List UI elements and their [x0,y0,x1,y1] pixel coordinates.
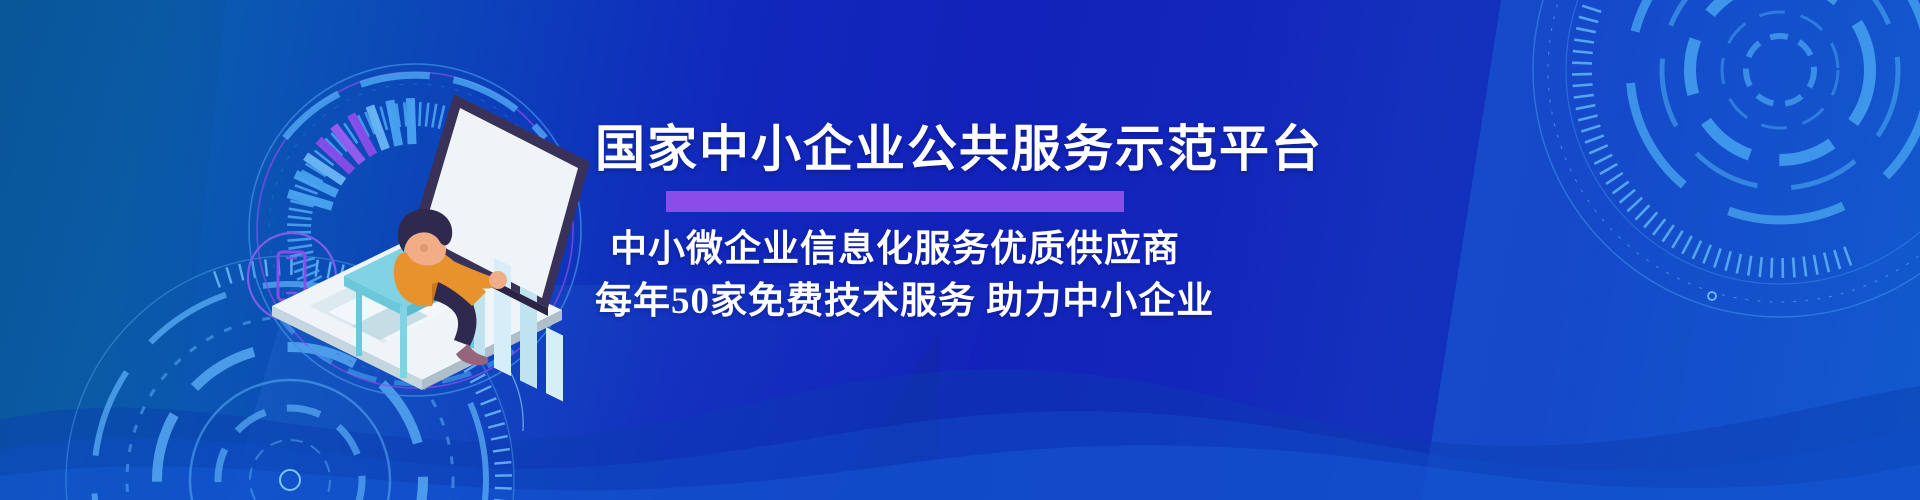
subtitle-line-1: 中小微企业信息化服务优质供应商 [595,225,1195,275]
page-title: 国家中小企业公共服务示范平台 [595,118,1195,180]
subtitle-line-2: 每年50家免费技术服务 助力中小企业 [595,277,1195,327]
hud-ring-top-right [1520,0,1920,330]
banner-text-block: 国家中小企业公共服务示范平台 中小微企业信息化服务优质供应商 每年50家免费技术… [595,118,1195,327]
person-using-laptop-illustration [232,58,592,408]
banner: 国家中小企业公共服务示范平台 中小微企业信息化服务优质供应商 每年50家免费技术… [0,0,1920,500]
purple-rule [666,191,1124,212]
